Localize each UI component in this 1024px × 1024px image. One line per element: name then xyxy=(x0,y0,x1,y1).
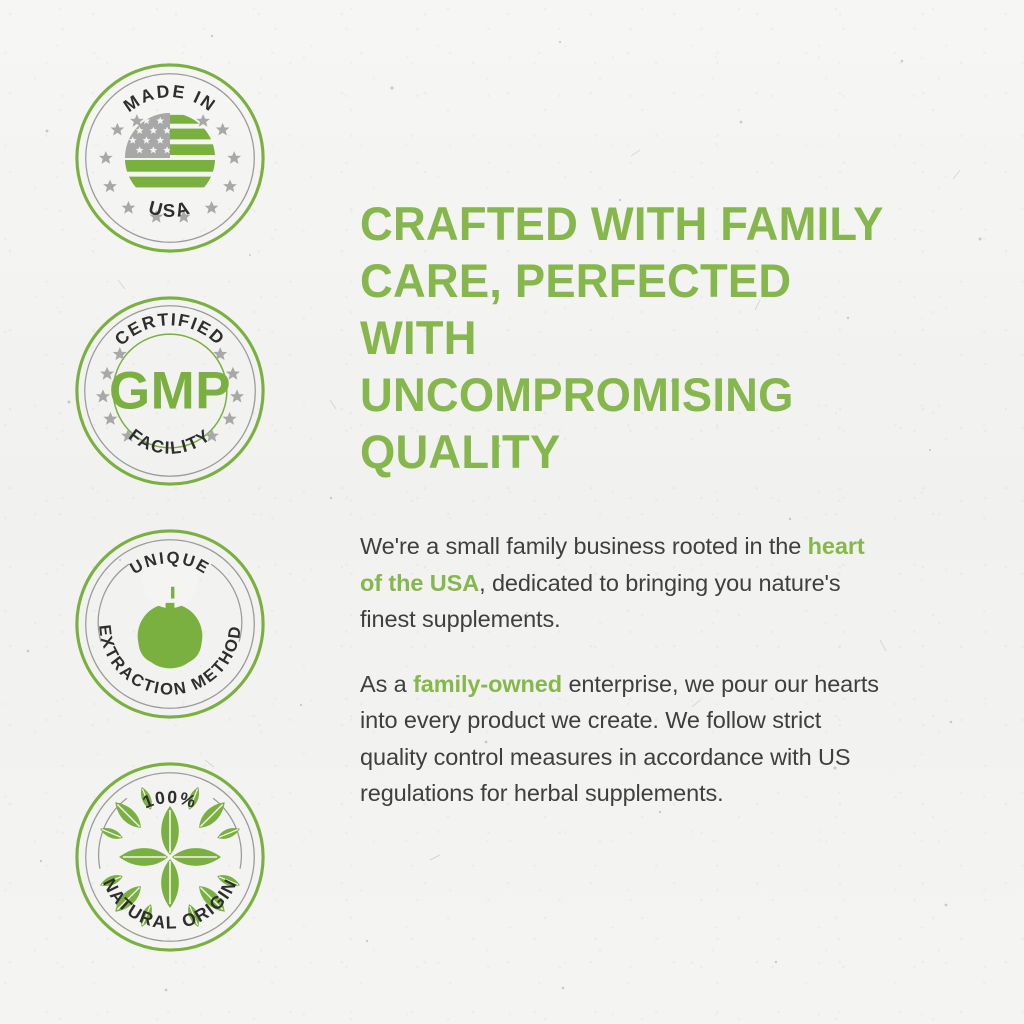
body-paragraph-2: As a family-owned enterprise, we pour ou… xyxy=(360,666,880,812)
body-text: As a xyxy=(360,671,413,697)
trust-badges-column: MADE IN USA xyxy=(0,0,340,1024)
unique-extraction-method-badge: UNIQUE EXTRACTION METHOD xyxy=(72,526,268,722)
promo-panel: MADE IN USA xyxy=(0,0,1024,1024)
emphasis-text: family-owned xyxy=(413,671,562,697)
badge-bottom-label: FACILITY xyxy=(125,425,215,458)
usa-flag-circle-icon xyxy=(125,113,217,203)
made-in-usa-badge: MADE IN USA xyxy=(72,60,268,256)
copy-column: CRAFTED WITH FAMILY CARE, PERFECTED WITH… xyxy=(340,0,1024,1024)
badge-top-label: CERTIFIED xyxy=(111,309,230,349)
natural-origin-badge: 100% NATURAL ORIGIN xyxy=(72,759,268,955)
body-text: We're a small family business rooted in … xyxy=(360,533,808,559)
gmp-text-icon: GMP xyxy=(109,362,231,421)
badge-top-label: MADE IN xyxy=(120,81,221,116)
badge-bottom-label: USA xyxy=(147,196,194,220)
gmp-certified-facility-badge: GMP CERTIFIED FACILITY xyxy=(72,293,268,489)
body-paragraph-1: We're a small family business rooted in … xyxy=(360,528,880,638)
page-title: CRAFTED WITH FAMILY CARE, PERFECTED WITH… xyxy=(360,195,885,480)
